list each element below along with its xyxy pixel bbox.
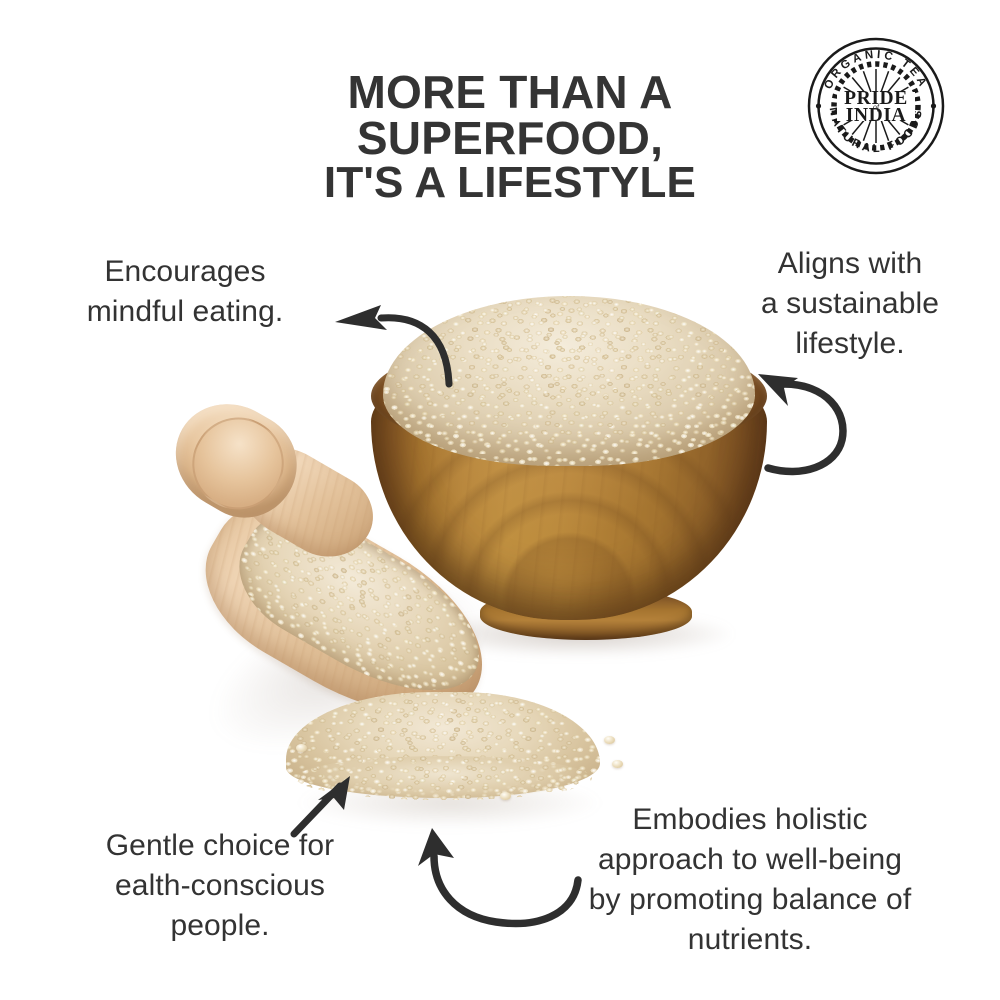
stray-seed [604, 736, 615, 744]
stray-seed [296, 744, 307, 752]
logo-left-dot [816, 103, 821, 108]
caption-bottom-right-line-2: approach to well-being [520, 840, 980, 880]
caption-bottom-right-line-1: Embodies holistic [520, 800, 980, 840]
poster-canvas: MORE THAN A SUPERFOOD, IT'S A LIFESTYLE … [0, 0, 1000, 1000]
caption-bottom-right-line-3: by promoting balance of [520, 880, 980, 920]
brand-logo: ORGANIC TEA NATURAL FOODS [806, 36, 946, 176]
caption-bottom-left-line-1: Gentle choice for [45, 826, 395, 866]
headline-line-2: SUPERFOOD, [250, 116, 770, 162]
logo-right-dot [931, 103, 936, 108]
wooden-scoop [168, 398, 498, 698]
caption-top-right: Aligns with a sustainable lifestyle. [716, 244, 984, 364]
caption-bottom-right: Embodies holistic approach to well-being… [520, 800, 980, 960]
caption-bottom-left-line-2: ealth-conscious [45, 866, 395, 906]
caption-top-right-line-1: Aligns with [716, 244, 984, 284]
stray-seed [500, 792, 511, 800]
caption-bottom-left: Gentle choice for ealth-conscious people… [45, 826, 395, 946]
caption-top-left-line-1: Encourages [30, 252, 340, 292]
stray-seed [612, 760, 623, 768]
caption-bottom-left-line-3: people. [45, 906, 395, 946]
caption-top-right-line-2: a sustainable [716, 284, 984, 324]
caption-top-left: Encourages mindful eating. [30, 252, 340, 332]
logo-brand-line-3: INDIA [846, 105, 906, 126]
headline-line-3: IT'S A LIFESTYLE [250, 161, 770, 205]
caption-top-right-line-3: lifestyle. [716, 324, 984, 364]
caption-top-left-line-2: mindful eating. [30, 292, 340, 332]
looping-arrow-pointing-up-left [752, 368, 862, 488]
curved-arrow-pointing-left [325, 288, 455, 388]
caption-bottom-right-line-4: nutrients. [520, 920, 980, 960]
page-title: MORE THAN A SUPERFOOD, IT'S A LIFESTYLE [250, 70, 770, 205]
headline-line-1: MORE THAN A [250, 70, 770, 116]
